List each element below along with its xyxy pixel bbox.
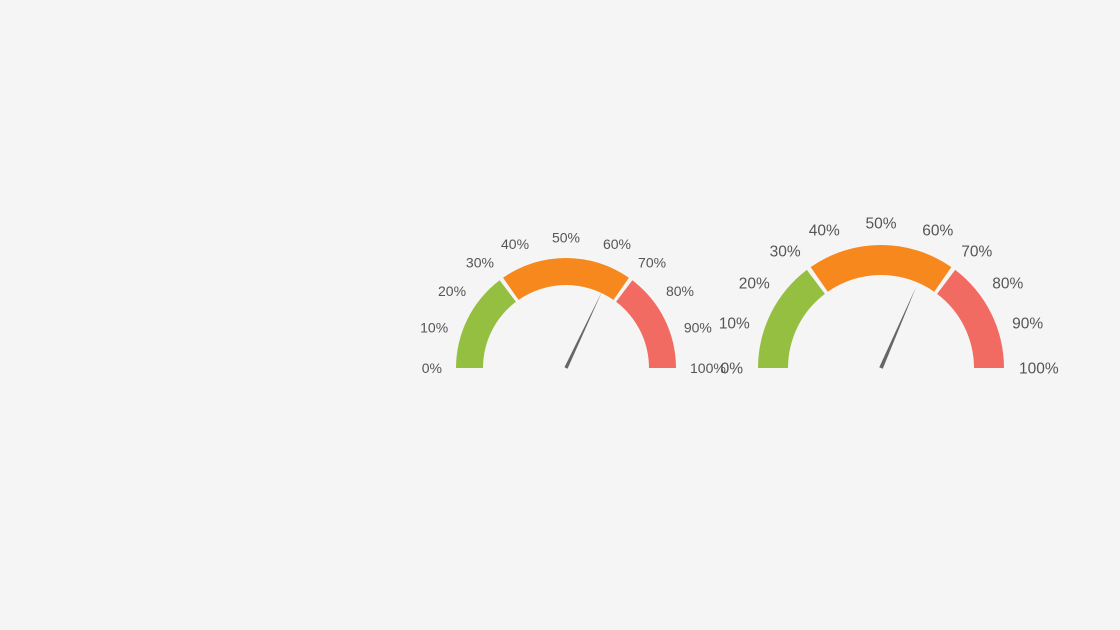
gauge-tick-label: 70% (961, 243, 992, 260)
gauge-tick-label: 60% (922, 223, 953, 240)
gauge-chart-canvas: 0%10%20%30%40%50%60%70%80%90%100%0%10%20… (0, 0, 1120, 630)
gauge-tick-label: 70% (638, 254, 666, 270)
chart-background (0, 0, 1120, 630)
gauge-tick-label: 90% (684, 320, 712, 336)
gauge-tick-label: 20% (438, 283, 466, 299)
gauge-tick-label: 50% (552, 230, 580, 246)
gauge-tick-label: 0% (422, 360, 442, 376)
gauge-tick-label: 40% (809, 223, 840, 240)
gauge-tick-label: 40% (501, 236, 529, 252)
gauge-tick-label: 60% (603, 236, 631, 252)
gauge-tick-label: 80% (666, 283, 694, 299)
gauge-tick-label: 90% (1012, 316, 1043, 333)
gauge-tick-label: 30% (770, 243, 801, 260)
gauge-tick-label: 30% (466, 254, 494, 270)
gauge-tick-label: 20% (739, 275, 770, 292)
gauge-tick-label: 10% (719, 316, 750, 333)
gauge-tick-label: 100% (1019, 360, 1059, 377)
gauge-tick-label: 80% (992, 275, 1023, 292)
gauge-tick-label: 0% (721, 360, 744, 377)
gauge-tick-label: 10% (420, 320, 448, 336)
gauge-tick-label: 50% (865, 216, 896, 233)
